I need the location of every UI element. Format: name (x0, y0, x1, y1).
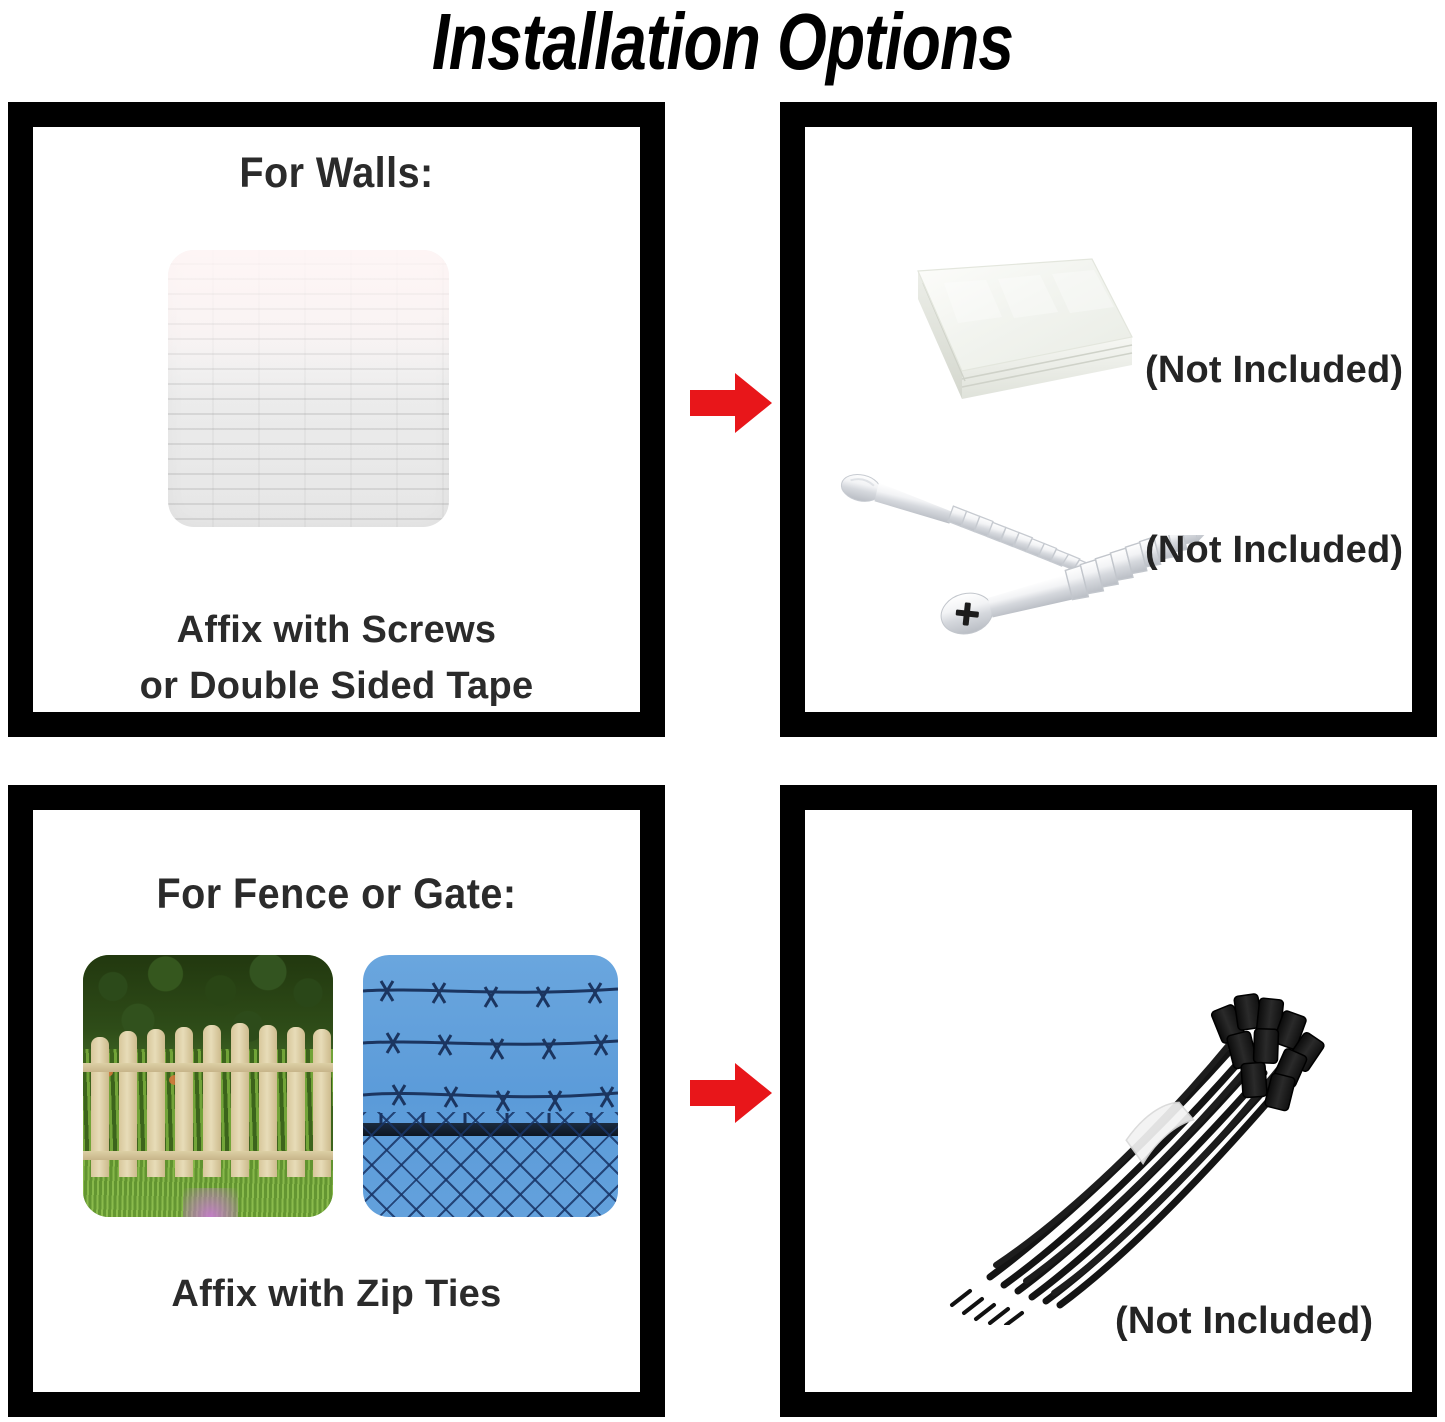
caption-walls-line2: or Double Sided Tape (33, 665, 640, 708)
white-brick-wall-image (168, 250, 449, 527)
ziptie-not-included-label: (Not Included) (1115, 1300, 1373, 1343)
red-right-arrow-bottom (690, 1063, 772, 1123)
picket-fence-image (83, 955, 333, 1217)
red-right-arrow-top (690, 373, 772, 433)
barbed-wire-fence-image (363, 955, 618, 1217)
panel-fence-hardware: (Not Included) (780, 785, 1437, 1417)
double-sided-tape-image (870, 253, 1160, 438)
panel-heading-walls: For Walls: (57, 149, 615, 198)
panel-for-fence-or-gate: For Fence or Gate: (8, 785, 665, 1417)
panel-for-walls: For Walls: Affix with Screws or Double S… (8, 102, 665, 737)
panel-heading-fence: For Fence or Gate: (57, 870, 615, 919)
brick-highlight-wash (168, 250, 449, 527)
fence-rail-lower (83, 1151, 333, 1160)
screw-not-included-label: (Not Included) (1145, 529, 1403, 572)
chain-link-mesh (363, 1112, 618, 1217)
zip-tie-bundle-image (930, 925, 1350, 1325)
fence-rail-upper (83, 1063, 333, 1072)
caption-walls-line1: Affix with Screws (33, 609, 640, 652)
tape-not-included-label: (Not Included) (1145, 349, 1403, 392)
panel-wall-hardware: (Not Included) (780, 102, 1437, 737)
garden-path (183, 1188, 238, 1217)
page-title: Installation Options (145, 0, 1301, 88)
caption-fence-line1: Affix with Zip Ties (33, 1273, 640, 1316)
